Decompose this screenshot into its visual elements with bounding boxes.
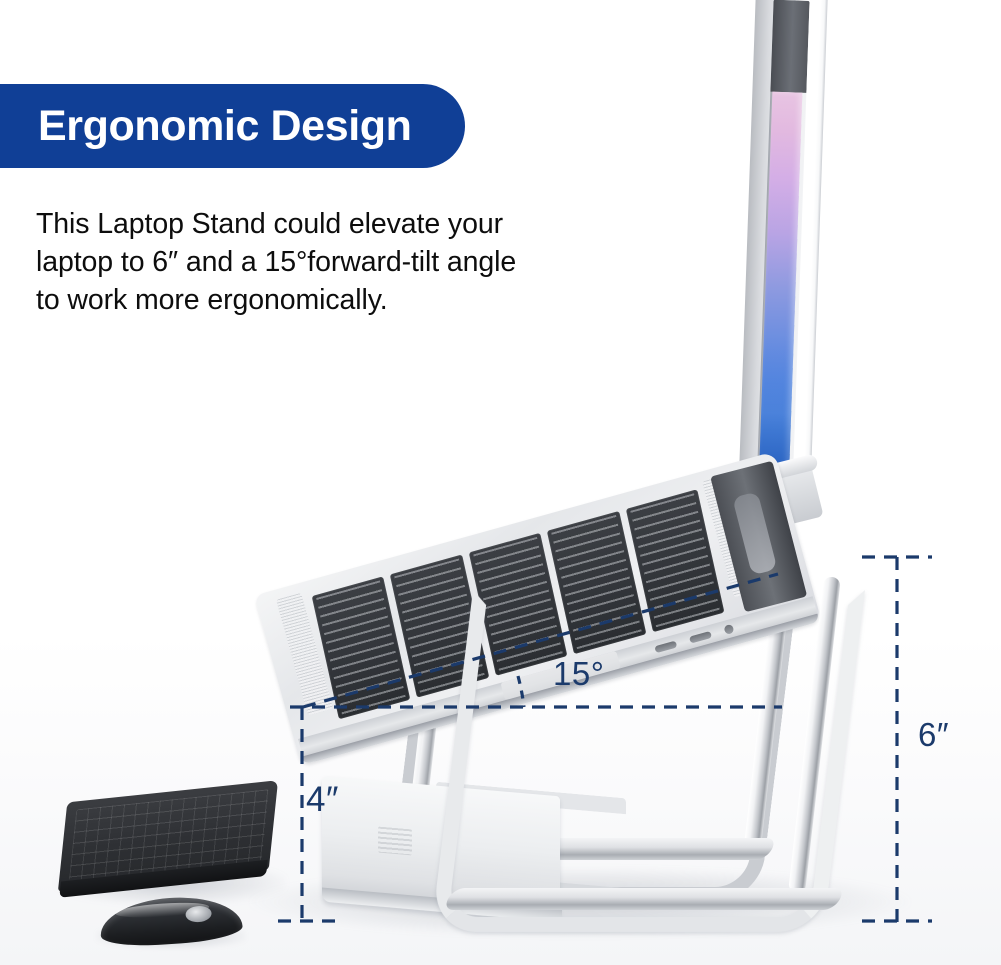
product-feature-image: Ergonomic Design This Laptop Stand could… [0, 0, 1001, 965]
product-photo [0, 0, 1001, 965]
brand-logo [378, 827, 412, 856]
stand-foot-front [442, 888, 846, 910]
